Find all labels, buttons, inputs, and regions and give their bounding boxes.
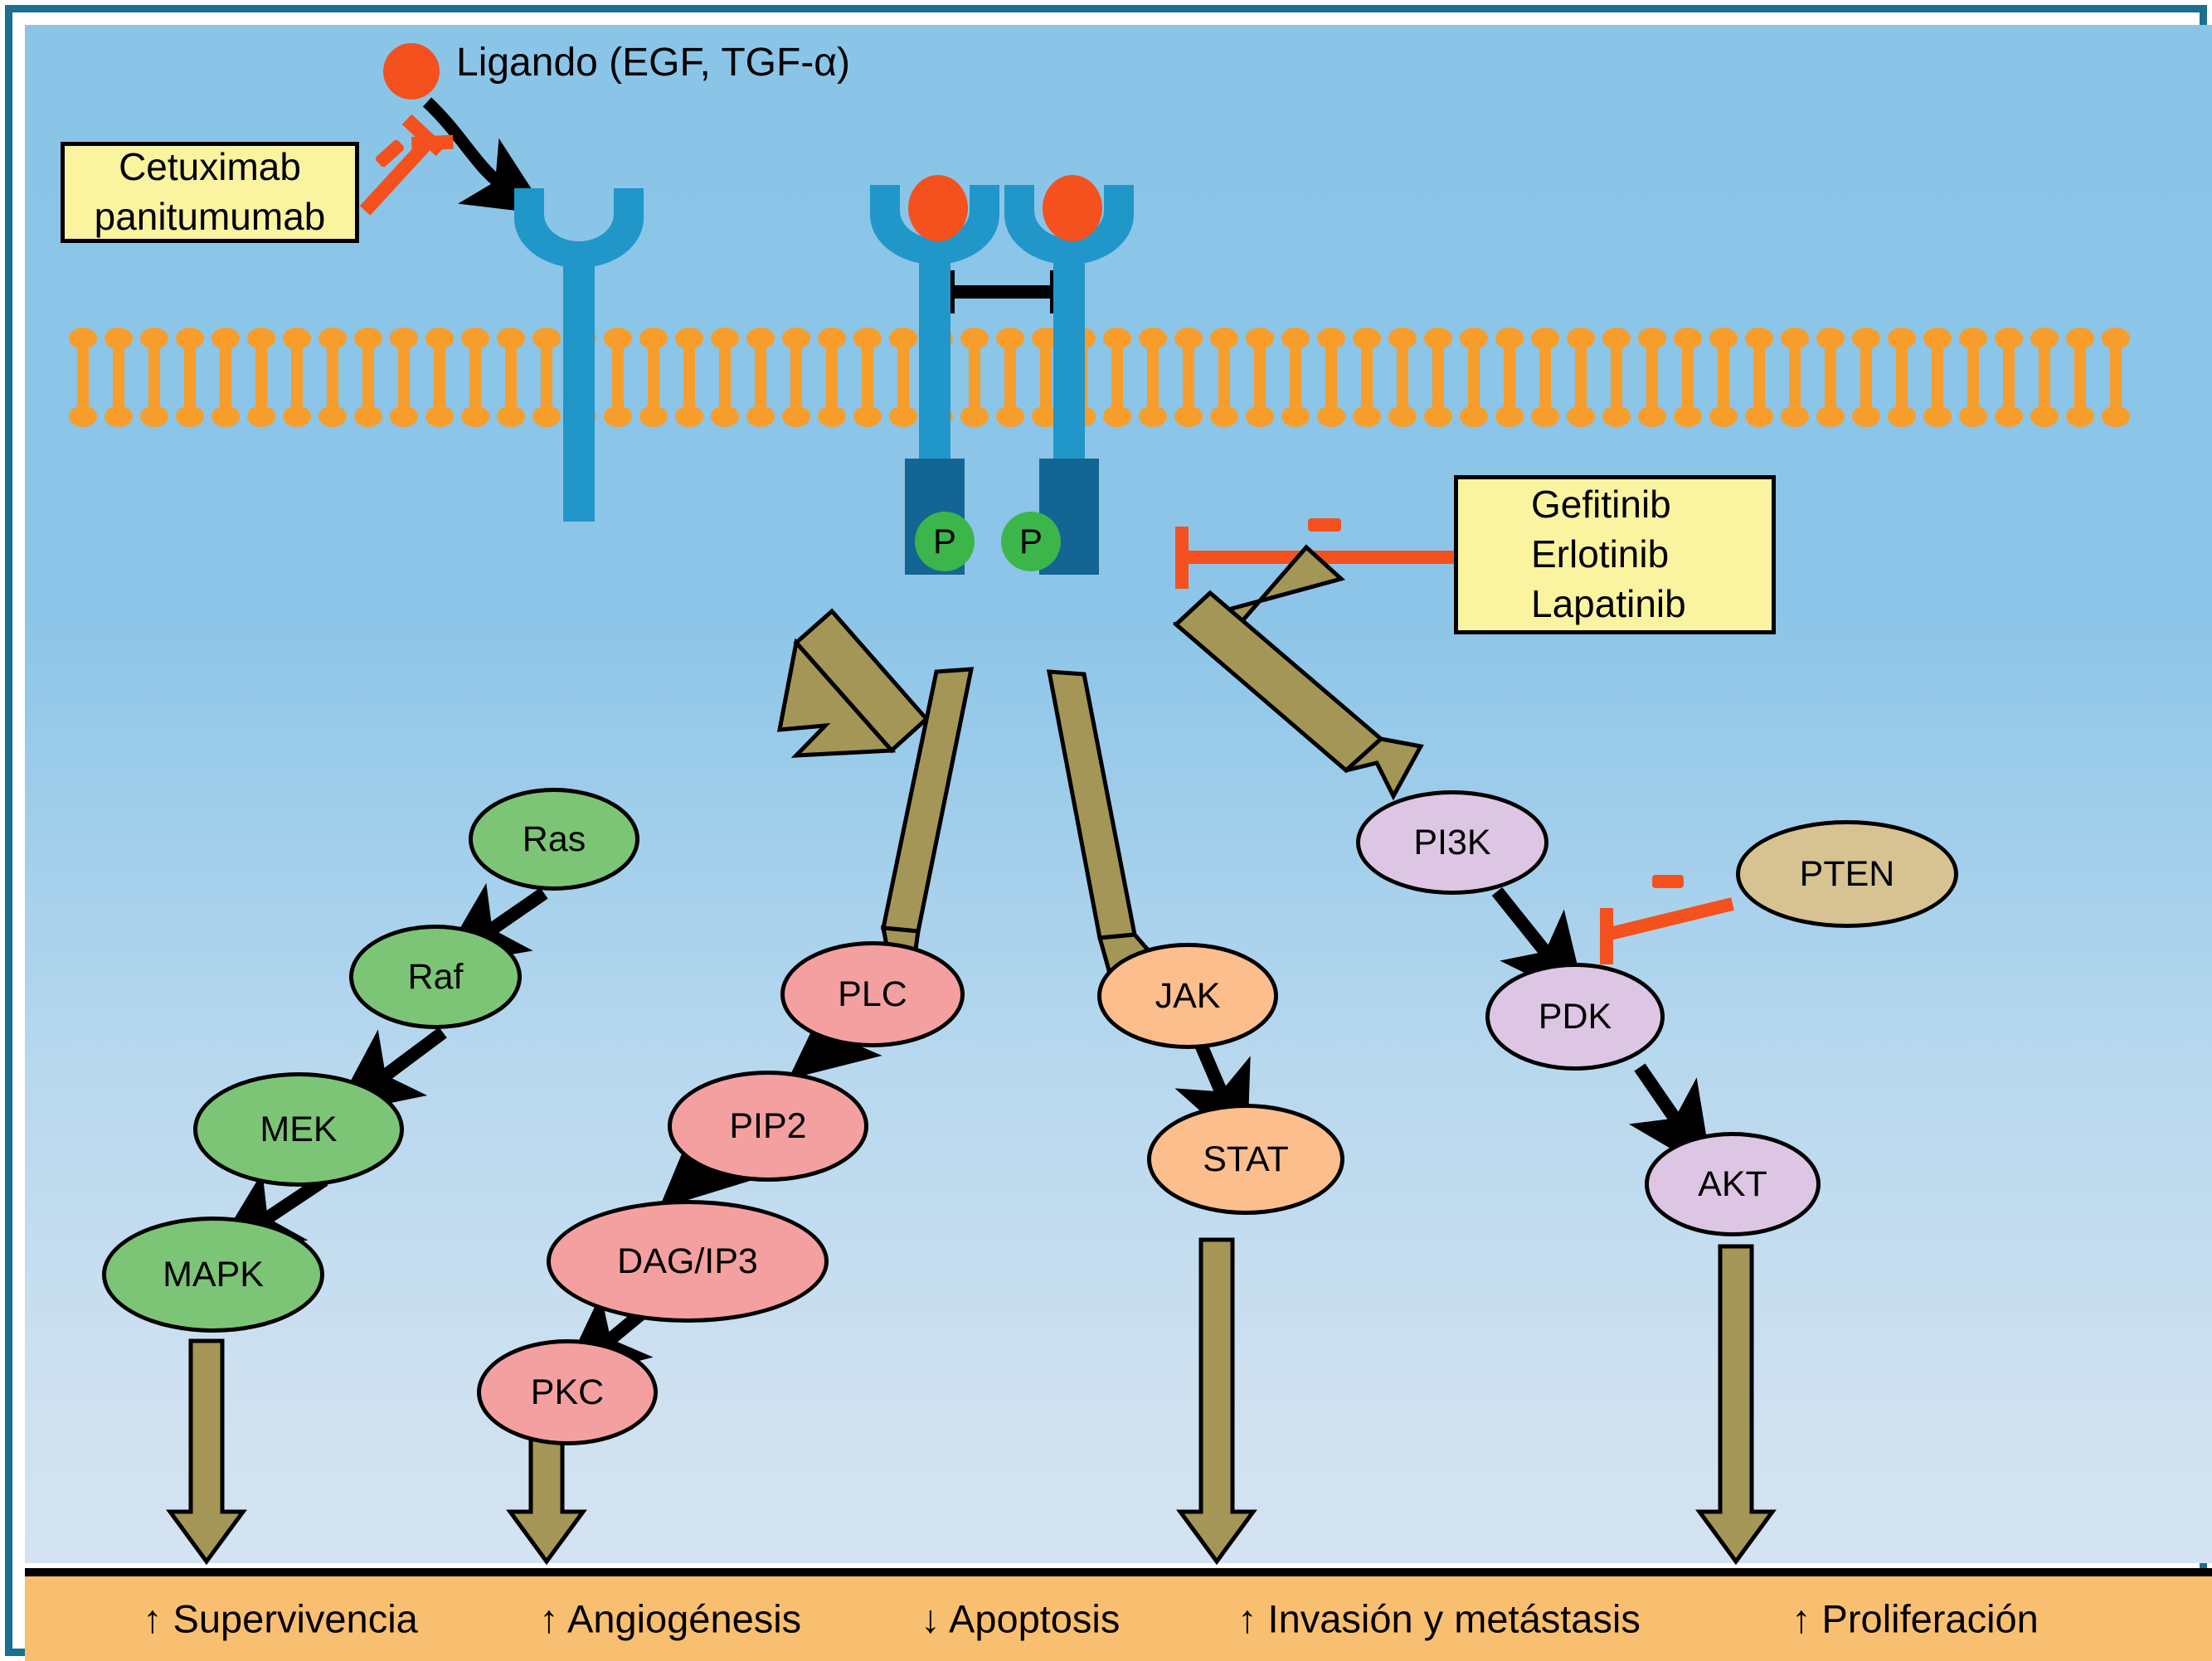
node-akt[interactable]: AKT: [1645, 1132, 1821, 1236]
lipid-head-inner: [1923, 406, 1952, 427]
membrane-lipid: [2102, 328, 2130, 427]
lipid-head-inner: [675, 406, 703, 427]
membrane-lipid: [1709, 328, 1738, 427]
membrane-lipid: [1246, 328, 1274, 427]
node-plc-label: PLC: [838, 974, 907, 1015]
lipid-head-inner: [1210, 406, 1238, 427]
node-mapk[interactable]: MAPK: [102, 1217, 324, 1333]
outcome-supervivencia: ↑ Supervivencia: [143, 1596, 418, 1642]
lipid-head-inner: [1852, 406, 1880, 427]
phospho-label-left: P: [933, 522, 956, 561]
nucleus-outcome-banner: ↑ Supervivencia ↑ Angiogénesis ↓ Apoptos…: [25, 1568, 2212, 1661]
membrane-lipid: [1424, 328, 1452, 427]
lipid-head-inner: [283, 406, 311, 427]
diagram-frame: Ligando (EGF, TGF-α) Cetuximab panitumum…: [5, 5, 2207, 1656]
node-pi3k-label: PI3K: [1413, 823, 1490, 863]
lipid-head-inner: [2066, 406, 2094, 427]
lipid-head-inner: [1567, 406, 1595, 427]
lipid-head-inner: [1174, 406, 1203, 427]
membrane-lipid: [1602, 328, 1631, 427]
drugbox-antibodies-line1: Cetuximab: [119, 143, 301, 192]
lipid-head-inner: [2102, 406, 2130, 427]
lipid-head-inner: [176, 406, 204, 427]
membrane-lipid: [639, 328, 668, 427]
membrane-lipid: [675, 328, 703, 427]
lipid-head-inner: [711, 406, 739, 427]
membrane-lipid: [390, 328, 418, 427]
lipid-head-inner: [1995, 406, 2023, 427]
membrane-lipid: [1923, 328, 1952, 427]
lipid-head-inner: [354, 406, 382, 427]
membrane-lipid: [711, 328, 739, 427]
ligand-label: Ligando (EGF, TGF-α): [456, 40, 850, 85]
membrane-lipid: [1888, 328, 1916, 427]
outcome-apoptosis: ↓ Apoptosis: [921, 1596, 1120, 1642]
bound-ligand-left: [908, 175, 968, 241]
node-pip2-label: PIP2: [729, 1106, 806, 1147]
membrane-lipid: [818, 328, 846, 427]
membrane-lipid: [283, 328, 311, 427]
membrane-lipid: [247, 328, 275, 427]
lipid-head-inner: [1388, 406, 1417, 427]
membrane-lipid: [1139, 328, 1167, 427]
lipid-head-inner: [1353, 406, 1381, 427]
phospho-group-left[interactable]: P: [915, 512, 975, 571]
lipid-head-inner: [425, 406, 454, 427]
lipid-head-inner: [1745, 406, 1773, 427]
lipid-head-inner: [69, 406, 97, 427]
node-ras[interactable]: Ras: [469, 788, 639, 891]
membrane-lipid: [1353, 328, 1381, 427]
receptor-pocket-void: [544, 187, 614, 241]
node-plc[interactable]: PLC: [780, 941, 965, 1047]
membrane-lipid: [1281, 328, 1310, 427]
membrane-lipid: [1388, 328, 1417, 427]
lipid-head-inner: [1531, 406, 1559, 427]
lipid-head-inner: [1959, 406, 1987, 427]
node-raf-label: Raf: [408, 957, 464, 998]
node-pkc[interactable]: PKC: [477, 1339, 658, 1445]
lipid-head-inner: [1888, 406, 1916, 427]
egfr-pathway-diagram: Ligando (EGF, TGF-α) Cetuximab panitumum…: [0, 0, 2212, 1661]
drugbox-antibodies[interactable]: Cetuximab panitumumab: [61, 142, 359, 243]
membrane-lipid: [176, 328, 204, 427]
membrane-lipid: [1745, 328, 1773, 427]
membrane-lipid: [1317, 328, 1345, 427]
node-mek-label: MEK: [260, 1110, 337, 1150]
drugbox-tki-line3: Lapatinib: [1531, 580, 1686, 629]
lipid-head-inner: [639, 406, 668, 427]
drugbox-antibodies-line2: panitumumab: [95, 192, 326, 242]
receptor-transmembrane-stem: [563, 263, 595, 522]
phospho-label-right: P: [1019, 522, 1043, 561]
outcome-proliferacion: ↑ Proliferación: [1791, 1596, 2039, 1642]
lipid-head-inner: [318, 406, 347, 427]
free-ligand-dot: [383, 43, 440, 100]
membrane-lipid: [2030, 328, 2059, 427]
membrane-lipid: [1638, 328, 1666, 427]
membrane-lipid: [782, 328, 810, 427]
membrane-lipid: [1781, 328, 1809, 427]
membrane-lipid: [1816, 328, 1845, 427]
lipid-head-inner: [746, 406, 775, 427]
node-mek[interactable]: MEK: [193, 1072, 404, 1187]
node-dagip3[interactable]: DAG/IP3: [547, 1200, 829, 1323]
lipid-head-inner: [211, 406, 240, 427]
membrane-lipid: [1210, 328, 1238, 427]
lipid-head-inner: [1602, 406, 1631, 427]
drugbox-tki[interactable]: Gefitinib Erlotinib Lapatinib: [1454, 475, 1776, 634]
lipid-head-inner: [1816, 406, 1845, 427]
node-dagip3-label: DAG/IP3: [617, 1241, 758, 1282]
node-ras-label: Ras: [523, 819, 586, 860]
membrane-lipid: [1531, 328, 1559, 427]
membrane-lipid: [354, 328, 382, 427]
bound-ligand-right: [1043, 175, 1102, 241]
membrane-lipid: [140, 328, 168, 427]
phospho-group-right[interactable]: P: [1001, 512, 1061, 571]
membrane-lipid: [425, 328, 454, 427]
node-pdk-label: PDK: [1539, 997, 1612, 1037]
lipid-head-inner: [1495, 406, 1524, 427]
lipid-head-inner: [1139, 406, 1167, 427]
membrane-lipid: [1852, 328, 1880, 427]
node-raf[interactable]: Raf: [349, 925, 522, 1029]
lipid-head-inner: [1281, 406, 1310, 427]
outcome-invasion: ↑ Invasión y metástasis: [1237, 1596, 1641, 1642]
node-jak[interactable]: JAK: [1097, 943, 1278, 1049]
lipid-head-inner: [461, 406, 489, 427]
membrane-lipid: [318, 328, 347, 427]
egfr-monomer-unliganded[interactable]: [514, 188, 644, 520]
lipid-head-inner: [818, 406, 846, 427]
membrane-lipid: [69, 328, 97, 427]
lipid-head-inner: [1709, 406, 1738, 427]
lipid-head-inner: [105, 406, 133, 427]
lipid-head-inner: [1317, 406, 1345, 427]
drugbox-tki-line2: Erlotinib: [1531, 530, 1669, 580]
node-stat-label: STAT: [1203, 1139, 1289, 1180]
membrane-lipid: [1174, 328, 1203, 427]
lipid-head-inner: [390, 406, 418, 427]
lipid-head-inner: [782, 406, 810, 427]
lipid-head-inner: [140, 406, 168, 427]
drugbox-tki-line1: Gefitinib: [1531, 480, 1671, 530]
node-stat[interactable]: STAT: [1147, 1104, 1344, 1215]
node-pdk[interactable]: PDK: [1485, 963, 1665, 1071]
membrane-lipid: [1460, 328, 1488, 427]
lipid-head-inner: [1781, 406, 1809, 427]
membrane-lipid: [1674, 328, 1702, 427]
lipid-head-inner: [1638, 406, 1666, 427]
membrane-lipid: [2066, 328, 2094, 427]
membrane-lipid: [461, 328, 489, 427]
node-mapk-label: MAPK: [163, 1255, 264, 1295]
membrane-lipid: [1495, 328, 1524, 427]
lipid-head-inner: [1460, 406, 1488, 427]
outcome-angiogenesis: ↑ Angiogénesis: [539, 1596, 801, 1642]
lipid-head-inner: [1674, 406, 1702, 427]
node-akt-label: AKT: [1698, 1164, 1767, 1205]
node-pi3k[interactable]: PI3K: [1356, 790, 1548, 895]
lipid-head-inner: [1246, 406, 1274, 427]
membrane-lipid: [746, 328, 775, 427]
lipid-head-inner: [247, 406, 275, 427]
lipid-head-inner: [1424, 406, 1452, 427]
membrane-lipid: [105, 328, 133, 427]
node-pten[interactable]: PTEN: [1736, 820, 1958, 928]
node-pkc-label: PKC: [531, 1372, 604, 1413]
node-pten-label: PTEN: [1800, 854, 1895, 895]
node-jak-label: JAK: [1155, 976, 1221, 1017]
membrane-lipid: [1995, 328, 2023, 427]
membrane-lipid: [1959, 328, 1987, 427]
membrane-lipid: [1567, 328, 1595, 427]
lipid-head-inner: [2030, 406, 2059, 427]
membrane-lipid: [211, 328, 240, 427]
node-pip2[interactable]: PIP2: [668, 1071, 868, 1182]
